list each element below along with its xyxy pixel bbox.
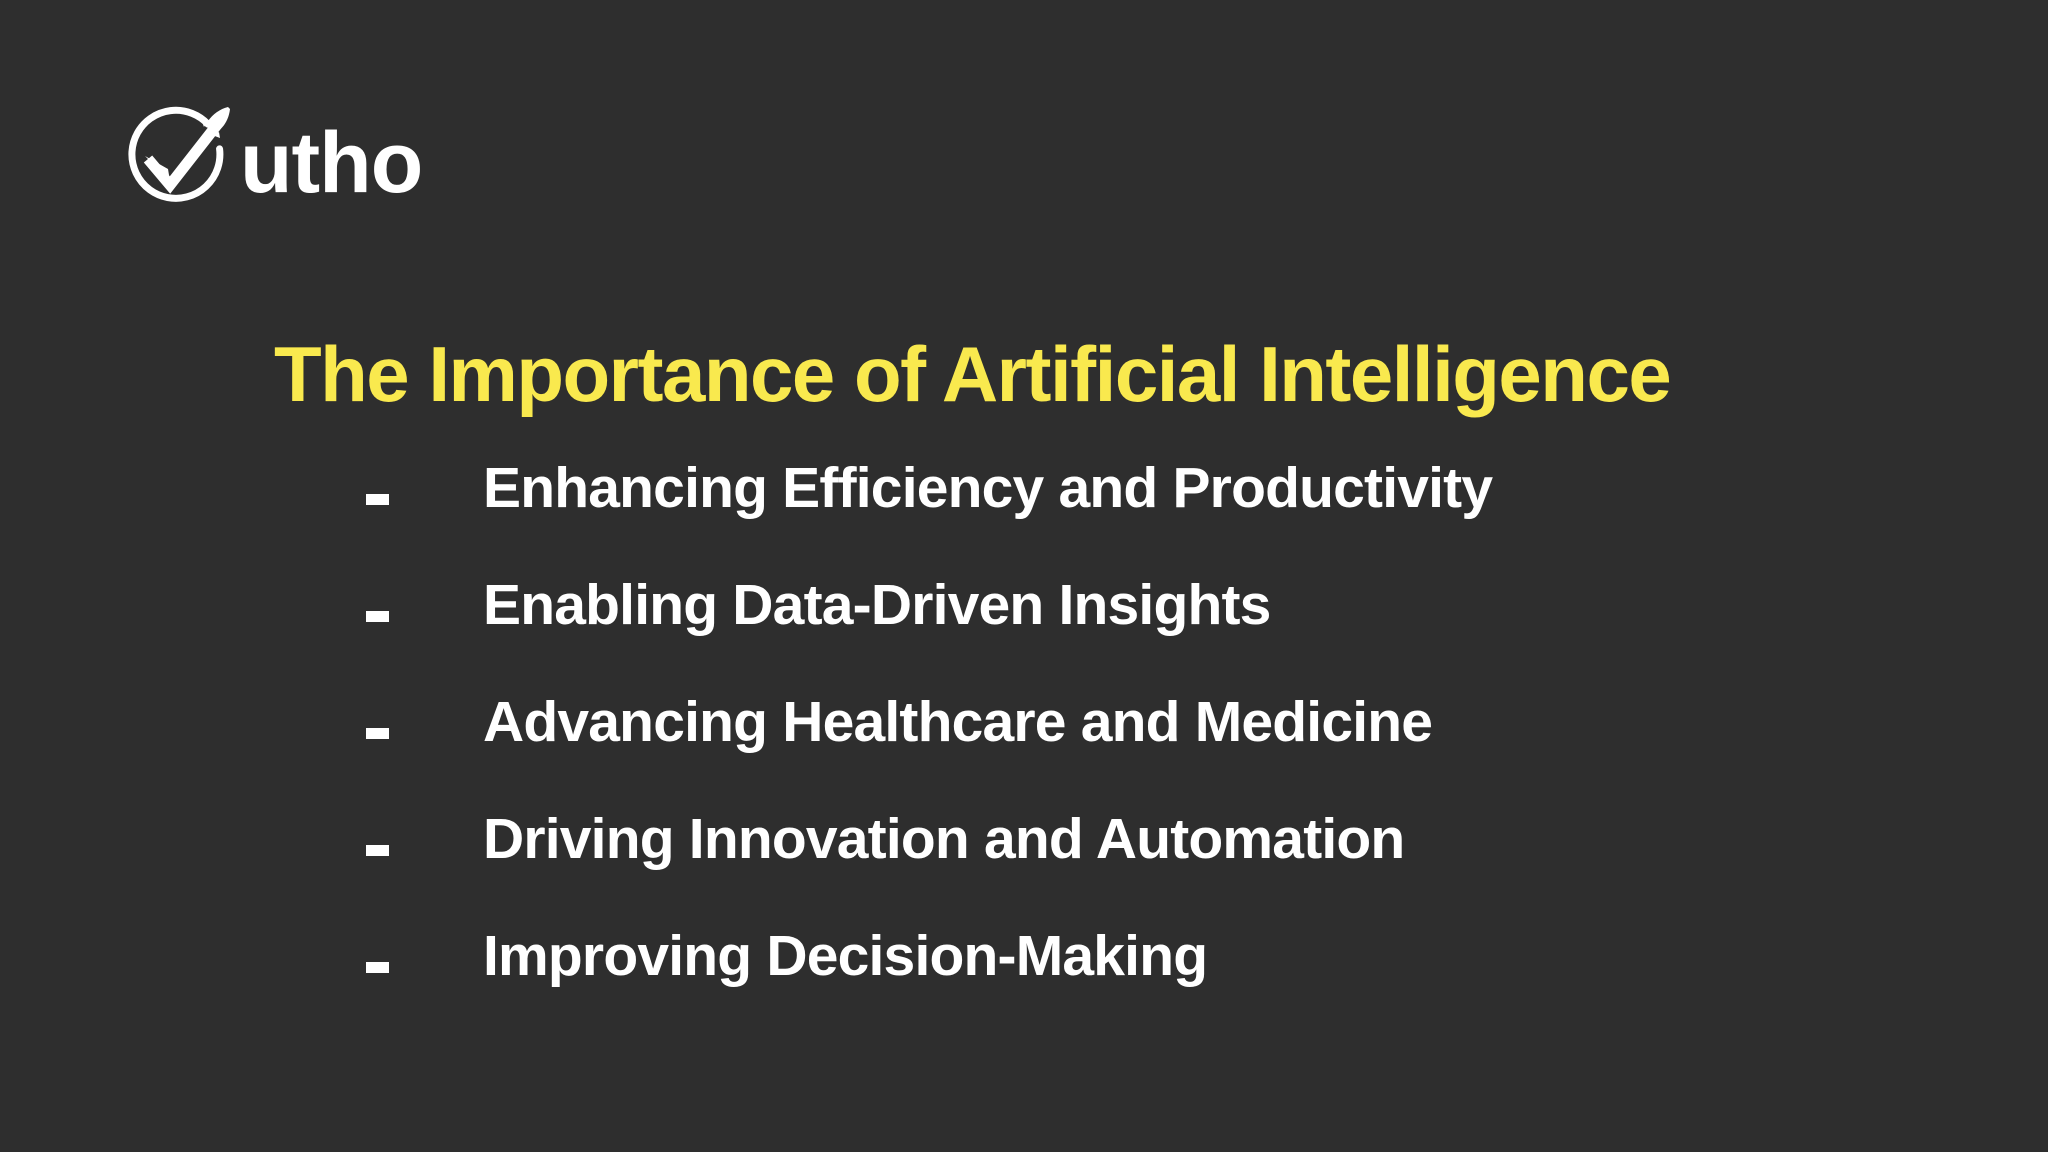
list-item-label: Enabling Data-Driven Insights — [483, 574, 1271, 637]
dash-bullet-icon — [366, 845, 389, 856]
dash-bullet-icon — [366, 611, 389, 622]
list-item: Enhancing Efficiency and Productivity — [366, 430, 1966, 547]
bullet-list: Enhancing Efficiency and Productivity En… — [366, 430, 1966, 1015]
dash-bullet-icon — [366, 962, 389, 973]
list-item-label: Advancing Healthcare and Medicine — [483, 691, 1432, 754]
list-item-label: Improving Decision-Making — [483, 925, 1207, 988]
dash-bullet-icon — [366, 494, 389, 505]
page-title: The Importance of Artificial Intelligenc… — [274, 334, 1914, 416]
list-item-label: Enhancing Efficiency and Productivity — [483, 457, 1492, 520]
list-item-label: Driving Innovation and Automation — [483, 808, 1404, 871]
list-item: Driving Innovation and Automation — [366, 781, 1966, 898]
presentation-slide: utho The Importance of Artificial Intell… — [0, 0, 2048, 1152]
dash-bullet-icon — [366, 728, 389, 739]
circle-check-rocket-icon — [124, 103, 232, 207]
brand-logo: utho — [124, 103, 422, 207]
list-item: Improving Decision-Making — [366, 898, 1966, 1015]
list-item: Enabling Data-Driven Insights — [366, 547, 1966, 664]
list-item: Advancing Healthcare and Medicine — [366, 664, 1966, 781]
brand-name: utho — [240, 120, 422, 206]
